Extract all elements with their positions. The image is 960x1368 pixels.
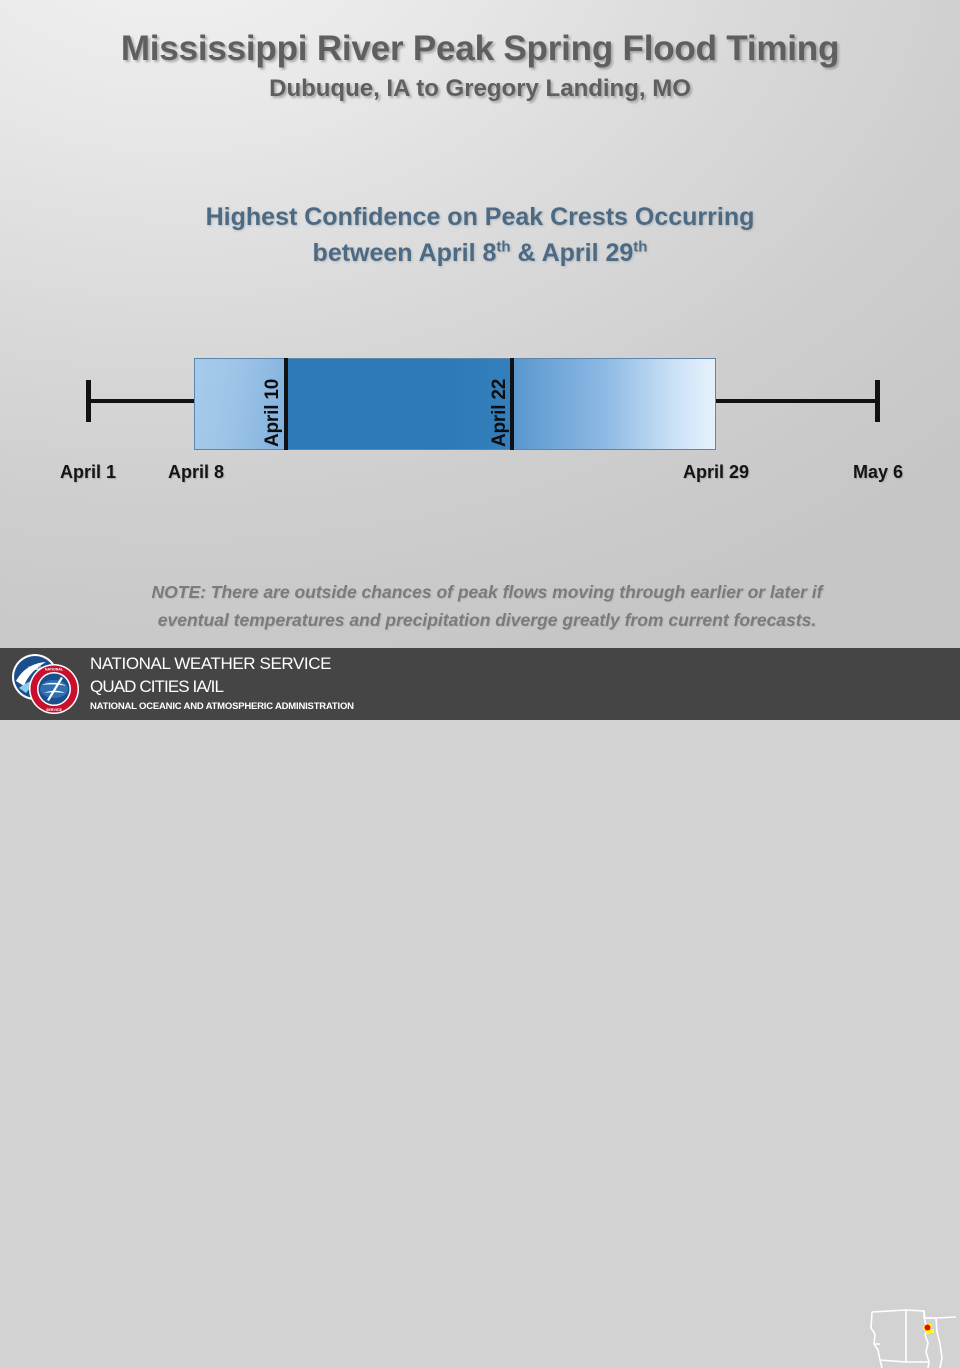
footer-bar: noaa NATIONAL SERVICE NATIONAL WEATHER S… — [0, 648, 960, 720]
whisker-line-min — [88, 399, 196, 403]
whisker-cap-max — [875, 380, 880, 422]
nws-logo-icon: NATIONAL SERVICE — [29, 664, 79, 714]
svg-text:NATIONAL: NATIONAL — [45, 668, 64, 672]
footer-line-noaa: NATIONAL OCEANIC AND ATMOSPHERIC ADMINIS… — [90, 701, 354, 712]
note-line-2: eventual temperatures and precipitation … — [72, 606, 902, 634]
axis-label-may-6: May 6 — [853, 462, 903, 483]
footer-line-office: QUAD CITIES IA/IL — [90, 676, 354, 699]
rotated-label-april-10: April 10 — [262, 379, 284, 447]
axis-label-april-8: April 8 — [168, 462, 224, 483]
quad-cities-marker — [923, 1324, 934, 1334]
agency-logos: noaa NATIONAL SERVICE — [6, 650, 82, 718]
divider-april-10 — [284, 358, 288, 450]
slide-canvas: Mississippi River Peak Spring Flood Timi… — [0, 0, 960, 720]
box-segment-late — [513, 359, 715, 449]
footer-text-block: NATIONAL WEATHER SERVICE QUAD CITIES IA/… — [90, 653, 354, 712]
svg-text:SERVICE: SERVICE — [46, 708, 62, 712]
note-block: NOTE: There are outside chances of peak … — [72, 578, 902, 635]
region-map-icon — [866, 1298, 958, 1368]
axis-label-april-29: April 29 — [683, 462, 749, 483]
whisker-line-max — [716, 399, 878, 403]
rotated-label-april-22: April 22 — [489, 379, 511, 447]
footer-line-agency: NATIONAL WEATHER SERVICE — [90, 653, 354, 676]
axis-label-april-1: April 1 — [60, 462, 116, 483]
note-line-1: NOTE: There are outside chances of peak … — [72, 578, 902, 606]
box-segment-core — [287, 359, 513, 449]
